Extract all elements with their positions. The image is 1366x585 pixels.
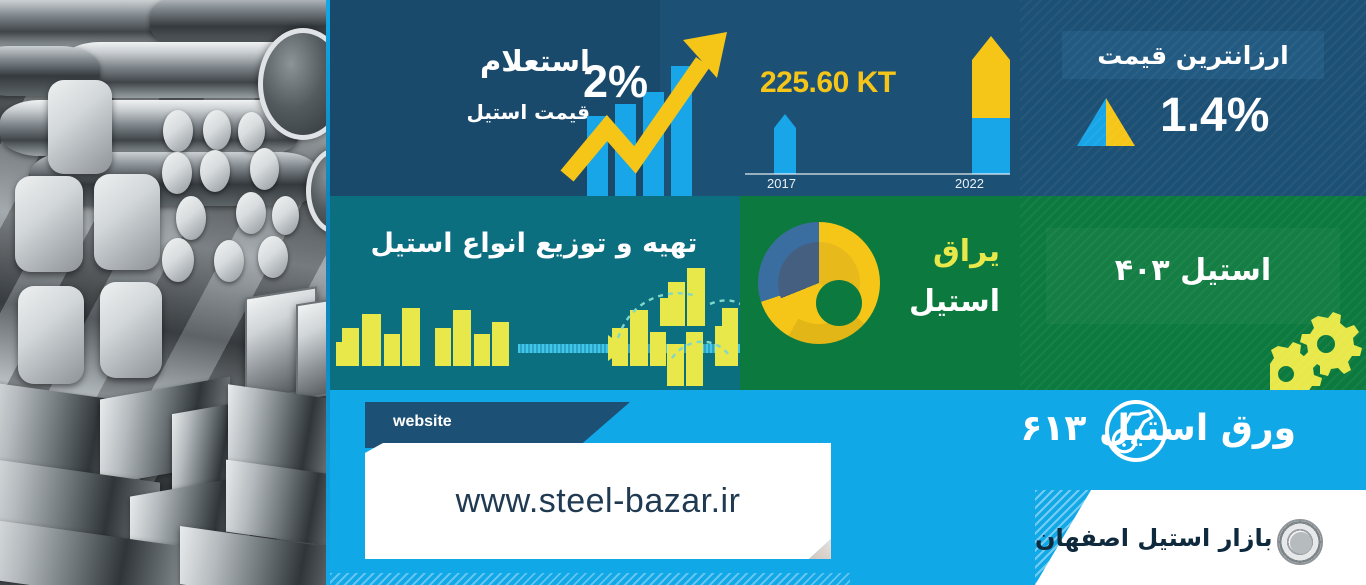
company-seal-logo (1277, 519, 1323, 565)
year-label-start: 2017 (767, 176, 796, 191)
fittings-donut-hole (816, 280, 862, 326)
company-seal-inner (1290, 532, 1312, 554)
panel-steel-304: استیل ۳۰۴ (1020, 196, 1366, 390)
growth-percent-label: 2% (583, 56, 648, 108)
photo-round-bar (200, 150, 230, 192)
gears-icon (1270, 300, 1366, 390)
cheapest-price-label: ارزانترین قیمت (1097, 41, 1288, 70)
building-icon (362, 314, 381, 366)
website-tab-label: website (393, 413, 452, 431)
photo-square-bar (100, 282, 162, 378)
photo-square-tube (296, 296, 330, 401)
steel-304-title: استیل ۳۰۴ (1020, 253, 1366, 288)
photo-round-bar (162, 238, 194, 282)
building-icon (492, 322, 509, 366)
cheapest-price-percent: 1.4% (1160, 88, 1269, 143)
photo-round-bar (162, 152, 192, 194)
photo-round-bar (250, 148, 279, 190)
tonnage-label: 225.60 KT (760, 66, 896, 100)
growth-chart: 2% (555, 10, 745, 196)
fittings-donut-inner-ring (778, 242, 860, 324)
building-icon (402, 308, 420, 366)
building-icon (336, 342, 350, 366)
bar-2022-icon (960, 32, 1020, 174)
building-icon (474, 334, 490, 366)
photo-square-bar (48, 80, 112, 174)
distribution-title: تهیه و توزیع انواع استیل (350, 228, 718, 259)
building-icon (384, 334, 400, 366)
fittings-title-secondary: استیل (909, 284, 1000, 319)
website-url[interactable]: www.steel-bazar.ir (365, 443, 831, 559)
bar-2017-icon (757, 112, 817, 174)
photo-square-bar (18, 286, 84, 384)
triangle-up-icon (1075, 96, 1137, 148)
photo-round-bar (203, 110, 231, 150)
distribution-arcs-icon (610, 274, 740, 384)
photo-round-bar (236, 192, 266, 234)
photo-round-bar (258, 236, 288, 278)
panel-website: website www.steel-bazar.ir (330, 390, 850, 585)
photo-square-bar (15, 176, 83, 272)
panel-steel-price-quote: استعلام قیمت استیل 2% 225.60 KT 2017 202… (330, 0, 1020, 196)
fittings-title-primary: یراق (933, 234, 1000, 269)
building-icon (453, 310, 471, 366)
photo-square-bar (94, 174, 160, 270)
cheapest-price-ribbon: ارزانترین قیمت (1062, 31, 1324, 79)
photo-round-bar (214, 240, 244, 282)
photo-round-bar (176, 196, 206, 240)
panel-supply-distribution: تهیه و توزیع انواع استیل (330, 196, 740, 390)
panel-cheapest-price: ارزانترین قیمت 1.4% (1020, 0, 1366, 196)
photo-round-bar (163, 110, 193, 152)
building-icon (435, 328, 451, 366)
panel-steel-fittings: یراق استیل (740, 196, 1020, 390)
website-bottom-stripe (330, 573, 850, 585)
steel-products-photo (0, 0, 330, 585)
photo-round-bar (272, 196, 299, 235)
fittings-donut-chart (758, 222, 880, 344)
website-tab: website (365, 402, 630, 448)
infographic-root: استعلام قیمت استیل 2% 225.60 KT 2017 202… (0, 0, 1366, 585)
year-label-end: 2022 (955, 176, 984, 191)
tonnage-axis (745, 173, 1010, 175)
steel-316-title: ورق استیل ۳۱۶ (1020, 408, 1296, 449)
photo-round-bar (238, 112, 265, 151)
